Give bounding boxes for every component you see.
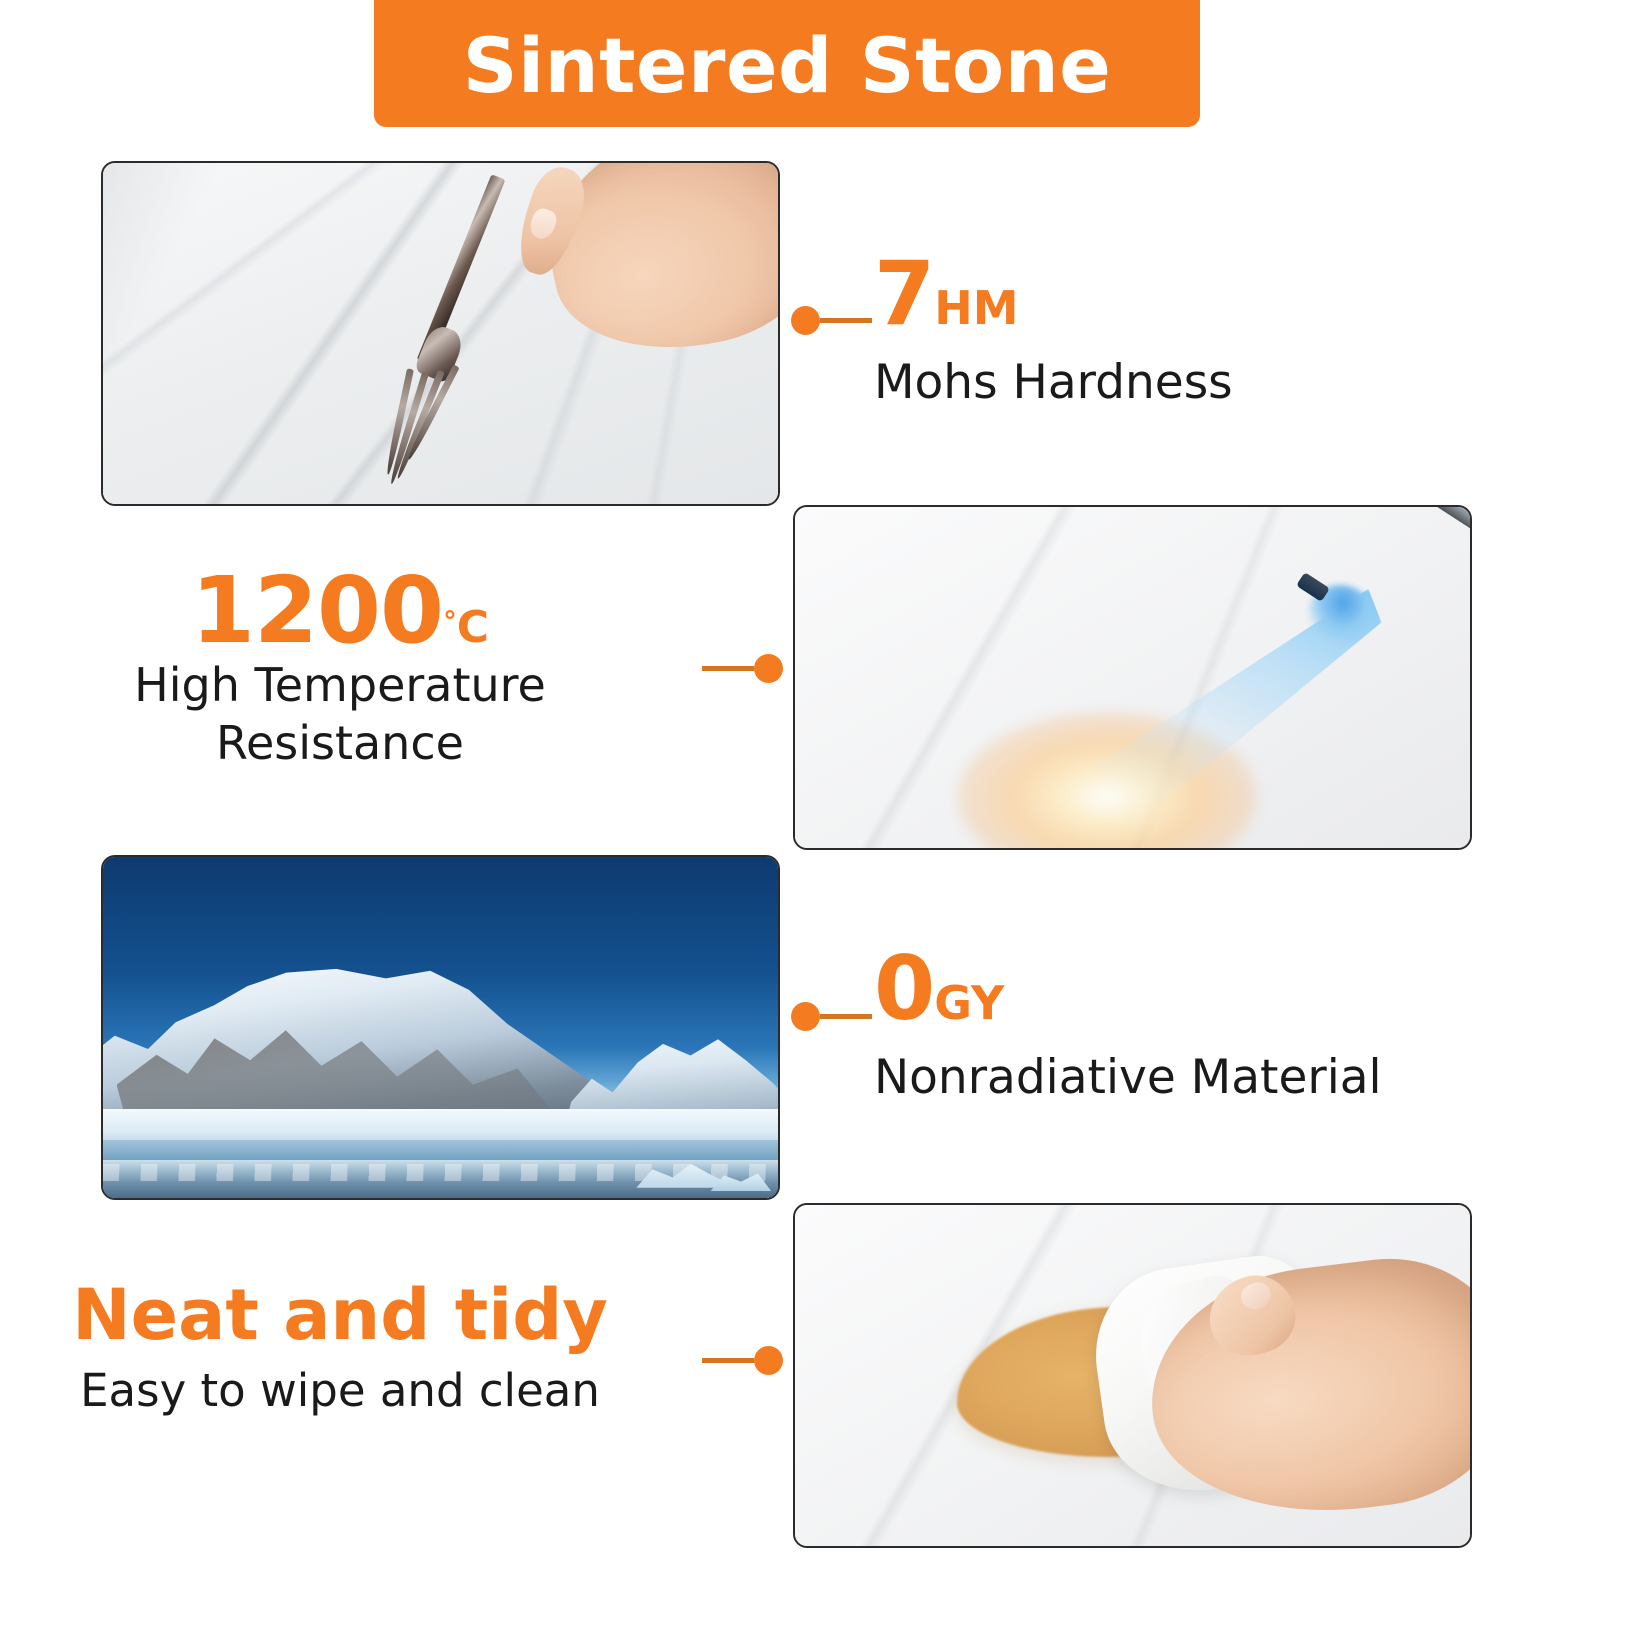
stat-label-hardness: Mohs Hardness	[874, 354, 1233, 411]
connector-line	[820, 318, 872, 323]
stat-value-clean: Neat and tidy	[0, 1280, 680, 1350]
connector-dot-icon	[754, 654, 783, 683]
photo-temperature-scene	[795, 507, 1470, 848]
page-title: Sintered Stone	[463, 28, 1112, 104]
photo-clean-scene	[795, 1205, 1470, 1546]
connector-dot-icon	[791, 1002, 820, 1031]
stat-unit: GY	[934, 976, 1004, 1030]
feature-photo-hardness	[101, 161, 780, 506]
infographic-page: Sintered Stone 7HM Mohs Hardness	[0, 0, 1650, 1650]
stat-unit: HM	[934, 281, 1018, 335]
stat-number: 0	[874, 937, 934, 1040]
connector-dot-icon	[754, 1346, 783, 1375]
connector-radiation	[791, 1002, 872, 1031]
connector-line	[702, 666, 754, 671]
title-banner: Sintered Stone	[374, 0, 1200, 127]
stat-number: 7	[874, 242, 934, 345]
stat-value-temperature: 1200°C	[0, 565, 680, 657]
photo-hardness-scene	[103, 163, 778, 504]
feature-photo-radiation	[101, 855, 780, 1200]
feature-stat-clean: Neat and tidy Easy to wipe and clean	[0, 1280, 680, 1419]
stat-label-temperature-line2: Resistance	[0, 715, 680, 773]
connector-dot-icon	[791, 306, 820, 335]
stat-label-clean: Easy to wipe and clean	[0, 1364, 680, 1419]
connector-clean	[702, 1346, 783, 1375]
stat-value-hardness: 7HM	[874, 250, 1233, 338]
feature-photo-temperature	[793, 505, 1472, 850]
stat-unit: °C	[443, 602, 489, 653]
stat-label-radiation: Nonradiative Material	[874, 1049, 1382, 1106]
connector-line	[702, 1358, 754, 1363]
feature-stat-radiation: 0GY Nonradiative Material	[874, 945, 1382, 1106]
connector-line	[820, 1014, 872, 1019]
stat-value-radiation: 0GY	[874, 945, 1382, 1033]
feature-stat-temperature: 1200°C High Temperature Resistance	[0, 565, 680, 773]
feature-stat-hardness: 7HM Mohs Hardness	[874, 250, 1233, 411]
connector-hardness	[791, 306, 872, 335]
stat-number: 1200	[191, 557, 443, 664]
stat-label-temperature-line1: High Temperature	[0, 657, 680, 715]
photo-radiation-scene	[103, 857, 778, 1198]
connector-temperature	[702, 654, 783, 683]
feature-photo-clean	[793, 1203, 1472, 1548]
